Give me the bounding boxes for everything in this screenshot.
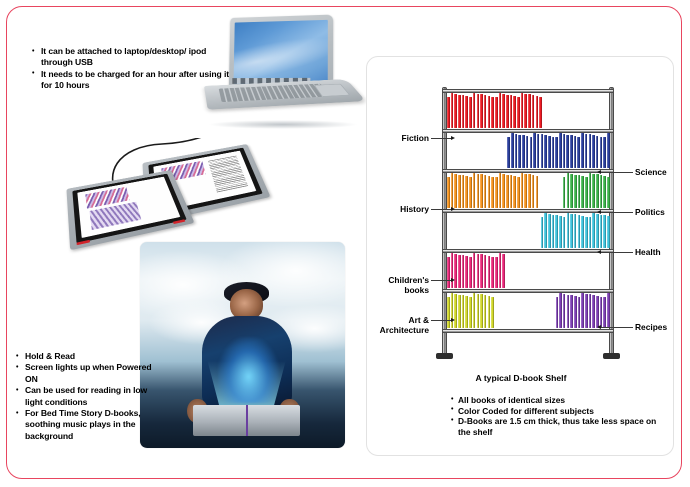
book-spine <box>581 216 584 248</box>
book-spine <box>495 97 498 128</box>
book-spine <box>556 297 559 328</box>
leader-line <box>601 212 633 213</box>
book-spine <box>541 217 544 248</box>
list-item: For Bed Time Story D-books, soothing mus… <box>16 408 166 442</box>
book-spine <box>495 177 498 208</box>
book-spine <box>488 296 491 328</box>
book-spine <box>600 175 603 208</box>
book-spine <box>524 174 527 208</box>
book-spine <box>541 134 544 168</box>
book-spine <box>607 133 610 168</box>
book-spine <box>477 254 480 288</box>
book-spine <box>522 135 525 168</box>
book-group-fiction <box>447 93 543 128</box>
shelf-caption: A typical D-book Shelf <box>367 373 675 383</box>
reading-photo <box>140 242 345 448</box>
book-spine <box>480 174 483 208</box>
book-spine <box>513 176 516 208</box>
book-spine <box>454 94 457 128</box>
book-spine <box>465 296 468 328</box>
shelf-label-politics: Politics <box>635 207 665 217</box>
glow-effect <box>218 337 280 403</box>
book-spine <box>607 177 610 209</box>
book-spine <box>447 177 450 208</box>
book-spine <box>458 175 461 208</box>
book-group-children-s-books <box>447 253 506 288</box>
book-spine <box>473 293 476 328</box>
book-spine <box>539 97 542 129</box>
book-spine <box>577 137 580 168</box>
book-spine <box>578 175 581 208</box>
book-spine <box>592 174 595 208</box>
book-spine <box>585 177 588 208</box>
book-spine <box>600 137 603 169</box>
book-spine <box>451 253 454 288</box>
shelf-foot-right <box>603 353 620 359</box>
book-spine <box>521 93 524 128</box>
book-spine <box>473 93 476 128</box>
book-spine <box>465 176 468 208</box>
book-spine <box>570 174 573 208</box>
d-book-reader-illustration <box>66 138 266 244</box>
book-spine <box>603 176 606 208</box>
list-item: Screen lights up when Powered ON <box>16 362 166 385</box>
book-spine <box>532 175 535 208</box>
book-spine <box>511 133 514 168</box>
book-spine <box>574 136 577 168</box>
book-spine <box>563 134 566 168</box>
book-spine <box>574 296 577 328</box>
shelf-label-art-architecture: Art &Architecture <box>380 315 429 335</box>
book-spine <box>462 295 465 328</box>
book-spine <box>567 173 570 208</box>
book-spine <box>491 97 494 129</box>
book-spine <box>502 254 505 288</box>
leader-line <box>601 252 633 253</box>
book-spine <box>454 254 457 288</box>
book-spine <box>524 94 527 128</box>
book-spine <box>447 97 450 128</box>
book-spine <box>585 294 588 328</box>
book-spine <box>585 134 588 168</box>
book-spine <box>592 213 595 248</box>
book-spine <box>513 96 516 128</box>
book-spine <box>521 173 524 208</box>
book-spine <box>484 255 487 288</box>
list-item: Hold & Read <box>16 351 166 362</box>
shelf-label-science: Science <box>635 167 667 177</box>
book-spine <box>607 293 610 328</box>
book-spine <box>451 93 454 128</box>
book-spine <box>552 137 555 169</box>
book-spine <box>578 297 581 328</box>
leader-line <box>601 327 633 328</box>
book-spine <box>454 174 457 208</box>
book-spine <box>502 94 505 128</box>
leader-line <box>431 138 453 139</box>
leader-line <box>431 320 453 321</box>
poster-canvas: It can be attached to laptop/desktop/ ip… <box>0 0 690 487</box>
book-spine <box>533 133 536 168</box>
book-spine <box>510 175 513 208</box>
book-spine <box>469 177 472 208</box>
book-spine <box>465 256 468 288</box>
book-spine <box>596 136 599 168</box>
book-group-science <box>507 133 611 168</box>
book-spine <box>563 294 566 328</box>
book-spine <box>555 215 558 248</box>
book-spine <box>578 215 581 248</box>
book-spine <box>528 174 531 208</box>
book-spine <box>555 137 558 168</box>
book-spine <box>473 173 476 208</box>
book-spine <box>600 215 603 248</box>
book-spine <box>559 216 562 248</box>
book-spine <box>458 255 461 288</box>
book-spine <box>570 295 573 328</box>
book-spine <box>462 95 465 128</box>
book-spine <box>607 216 610 248</box>
book-spine <box>484 95 487 128</box>
book-spine <box>574 175 577 208</box>
book-spine <box>499 93 502 128</box>
book-group-recipes <box>556 293 612 328</box>
book-spine <box>488 96 491 128</box>
book-spine <box>451 173 454 208</box>
book-spine <box>480 254 483 288</box>
shelf-label-fiction: Fiction <box>402 133 429 143</box>
book-spine <box>469 257 472 288</box>
book-spine <box>477 294 480 328</box>
shelf-feature-bullets: All books of identical sizes Color Coded… <box>451 395 661 437</box>
book-spine <box>589 294 592 328</box>
book-spine <box>544 135 547 168</box>
book-spine <box>592 295 595 328</box>
book-spine <box>536 176 539 208</box>
book-spine <box>581 293 584 328</box>
book-spine <box>526 136 529 168</box>
book-spine <box>518 135 521 168</box>
book-spine <box>510 95 513 128</box>
book-spine <box>589 173 592 208</box>
book-spine <box>480 294 483 328</box>
book-spine <box>548 214 551 248</box>
book-spine <box>502 174 505 208</box>
book-spine <box>530 137 533 168</box>
book-spine <box>532 95 535 128</box>
usage-feature-bullets: Hold & Read Screen lights up when Powere… <box>16 351 166 442</box>
book-spine <box>537 134 540 168</box>
book-spine <box>600 297 603 329</box>
book-spine <box>581 133 584 168</box>
shelf-label-history: History <box>400 204 429 214</box>
book-spine <box>603 215 606 248</box>
book-spine <box>596 296 599 328</box>
book-group-art-architecture <box>447 293 495 328</box>
book-spine <box>567 213 570 248</box>
book-spine <box>574 214 577 248</box>
shelf-board <box>443 329 613 333</box>
book-spine <box>570 135 573 168</box>
book-spine <box>566 135 569 168</box>
book-spine <box>480 94 483 128</box>
book-spine <box>517 177 520 208</box>
bookshelf-diagram: FictionHistoryChildren'sbooksArt &Archit… <box>367 57 675 367</box>
list-item: All books of identical sizes <box>451 395 661 406</box>
book-spine <box>515 134 518 168</box>
book-spine <box>559 293 562 328</box>
book-spine <box>458 95 461 128</box>
leader-line <box>431 280 453 281</box>
list-item: Color Coded for different subjects <box>451 406 661 417</box>
book-spine <box>603 137 606 168</box>
book-spine <box>592 135 595 168</box>
book-spine <box>488 176 491 208</box>
book-spine <box>544 213 547 248</box>
book-spine <box>603 297 606 328</box>
book-spine <box>458 295 461 328</box>
leader-line <box>601 172 633 173</box>
book-spine <box>536 96 539 128</box>
book-spine <box>563 217 566 248</box>
book-spine <box>469 97 472 128</box>
book-spine <box>473 253 476 288</box>
reader-left-page <box>77 177 180 238</box>
book-spine <box>454 294 457 328</box>
book-spine <box>548 136 551 168</box>
shelf-panel: FictionHistoryChildren'sbooksArt &Archit… <box>366 56 674 456</box>
leader-arrow <box>451 207 455 211</box>
book-spine <box>499 253 502 288</box>
book-spine <box>462 175 465 208</box>
leader-arrow <box>451 318 455 322</box>
book-spine <box>491 177 494 209</box>
usb-feature-bullets: It can be attached to laptop/desktop/ ip… <box>32 46 237 92</box>
book-spine <box>477 174 480 208</box>
book-group-history <box>447 173 540 208</box>
book-spine <box>589 134 592 168</box>
leader-arrow <box>597 170 601 174</box>
book-spine <box>469 297 472 328</box>
book-spine <box>484 295 487 328</box>
list-item: D-Books are 1.5 cm thick, thus take less… <box>451 416 661 437</box>
leader-arrow <box>451 136 455 140</box>
open-d-book <box>193 405 300 436</box>
book-spine <box>488 256 491 288</box>
book-spine <box>491 257 494 289</box>
book-spine <box>484 175 487 208</box>
book-spine <box>477 94 480 128</box>
book-spine <box>465 96 468 128</box>
book-spine <box>506 175 509 208</box>
book-spine <box>581 176 584 208</box>
book-group-health <box>541 213 611 248</box>
laptop-shadow <box>208 120 358 129</box>
book-group-politics <box>563 173 611 208</box>
shelf-label-health: Health <box>635 247 661 257</box>
list-item: It needs to be charged for an hour after… <box>32 69 237 92</box>
reader-left-screen <box>72 174 186 244</box>
book-spine <box>462 255 465 288</box>
shelf-label-children-s-books: Children'sbooks <box>388 275 429 295</box>
page-text-block <box>208 156 249 193</box>
book-spine <box>495 257 498 288</box>
book-spine <box>491 297 494 329</box>
book-spine <box>528 94 531 128</box>
book-spine <box>552 215 555 248</box>
book-spine <box>499 173 502 208</box>
book-spine <box>506 95 509 128</box>
book-spine <box>563 177 566 208</box>
shelf-foot-left <box>436 353 453 359</box>
leader-arrow <box>597 250 601 254</box>
book-spine <box>451 293 454 328</box>
book-spine <box>507 137 510 168</box>
leader-arrow <box>597 325 601 329</box>
book-spine <box>589 217 592 248</box>
book-spine <box>559 133 562 168</box>
leader-arrow <box>597 210 601 214</box>
book-spine <box>447 257 450 288</box>
reader-left-panel <box>66 170 194 250</box>
left-panel: It can be attached to laptop/desktop/ ip… <box>8 8 360 479</box>
shelf-label-recipes: Recipes <box>635 322 667 332</box>
leader-line <box>431 209 453 210</box>
leader-arrow <box>451 278 455 282</box>
list-item: Can be used for reading in low light con… <box>16 385 166 408</box>
laptop-display-glass <box>233 20 327 87</box>
book-spine <box>596 214 599 248</box>
book-spine <box>517 97 520 128</box>
book-spine <box>567 295 570 328</box>
book-spine <box>596 174 599 208</box>
book-spine <box>447 297 450 328</box>
book-spine <box>570 214 573 248</box>
book-spine <box>585 217 588 249</box>
list-item: It can be attached to laptop/desktop/ ip… <box>32 46 237 69</box>
